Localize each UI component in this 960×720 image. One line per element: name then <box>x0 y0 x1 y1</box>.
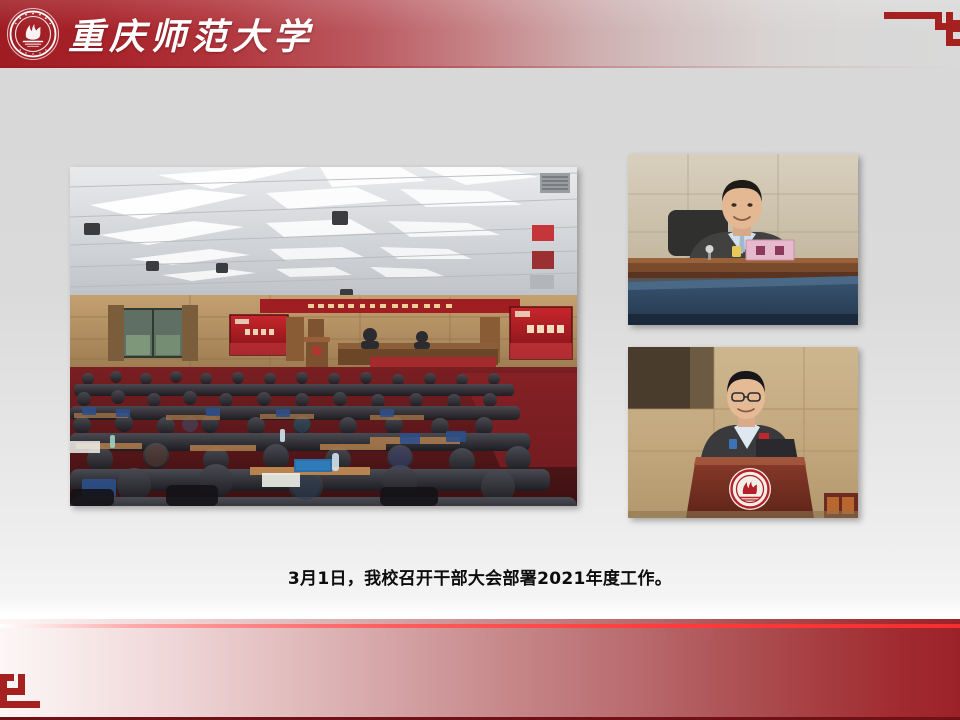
header-underline <box>0 66 960 68</box>
university-wordmark: 重庆师范大学 <box>68 6 314 62</box>
photo-speaker-seated[interactable] <box>628 154 858 325</box>
bottom-left-fret-ornament-overlay <box>0 666 78 712</box>
top-right-fret-ornament-icon <box>882 8 960 54</box>
footer-banner <box>0 619 960 720</box>
footer-accent-line <box>0 624 960 628</box>
university-seal-icon <box>6 7 60 61</box>
slide-caption: 3月1日，我校召开干部大会部署2021年度工作。 <box>0 564 960 589</box>
slide-canvas: 重庆师范大学 <box>0 0 960 720</box>
photo-conference-hall[interactable] <box>70 167 577 506</box>
photo-speaker-at-podium[interactable] <box>628 347 858 518</box>
